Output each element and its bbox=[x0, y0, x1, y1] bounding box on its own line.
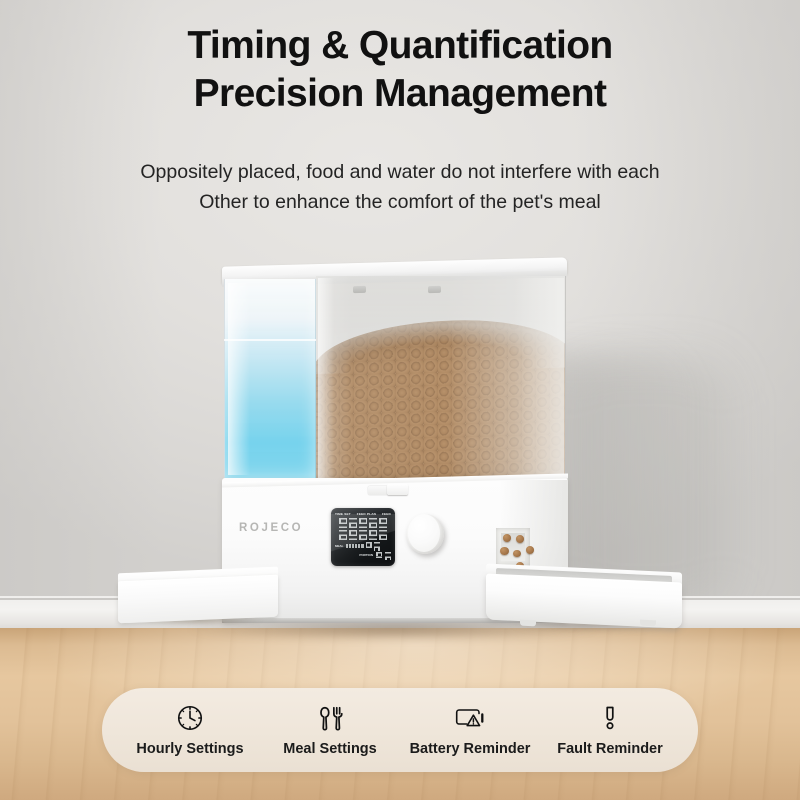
water-tank-gloss bbox=[228, 283, 250, 475]
hopper-gloss-left bbox=[318, 278, 334, 482]
lcd-digit bbox=[379, 518, 387, 528]
latch-right-part bbox=[387, 484, 408, 495]
falling-kibble bbox=[526, 546, 534, 554]
lcd-digit bbox=[374, 542, 380, 550]
lcd-digit bbox=[379, 530, 387, 540]
lcd-digit bbox=[369, 518, 377, 528]
food-hopper bbox=[316, 276, 566, 484]
food-tray-foot bbox=[640, 620, 656, 627]
feature-label: Fault Reminder bbox=[557, 741, 663, 757]
falling-kibble bbox=[513, 550, 521, 557]
lcd-display[interactable]: TIME SET FEED PLAN FEED MEAL bbox=[331, 508, 395, 566]
feature-highlight-bar: Hourly Settings Meal Settings bbox=[102, 688, 698, 772]
cutlery-icon bbox=[315, 703, 345, 733]
lcd-meal-bars bbox=[346, 544, 364, 549]
food-tray-foot bbox=[520, 620, 536, 627]
lcd-label-time-set: TIME SET bbox=[335, 512, 351, 516]
latch-left-part bbox=[368, 486, 388, 495]
lcd-digit bbox=[339, 530, 347, 540]
falling-kibble bbox=[516, 535, 524, 543]
clock-icon bbox=[175, 703, 205, 733]
lcd-digit bbox=[385, 552, 391, 560]
lcd-segment-row-2 bbox=[335, 530, 391, 540]
lcd-segment-row-1 bbox=[335, 518, 391, 528]
water-tray bbox=[118, 575, 278, 624]
feature-label: Battery Reminder bbox=[410, 741, 531, 757]
lcd-meal-row: MEAL bbox=[335, 542, 391, 550]
pet-feeder-product: ROJECO TIME SET FEED PLAN FEED bbox=[0, 0, 800, 680]
feature-item-fault-reminder[interactable]: Fault Reminder bbox=[540, 703, 680, 757]
lcd-digit bbox=[376, 552, 382, 560]
lcd-digit bbox=[339, 518, 347, 528]
lcd-top-labels: TIME SET FEED PLAN FEED bbox=[335, 512, 391, 516]
feature-item-battery-reminder[interactable]: Battery Reminder bbox=[400, 703, 540, 757]
feature-label: Meal Settings bbox=[283, 741, 376, 757]
lcd-portion-row: PORTION bbox=[335, 552, 391, 560]
lcd-label-feed: FEED bbox=[382, 512, 391, 516]
lcd-digit bbox=[359, 518, 367, 528]
lcd-label-portion: PORTION bbox=[359, 553, 373, 557]
exclamation-icon bbox=[595, 703, 625, 733]
hopper-gloss-right bbox=[514, 278, 564, 482]
lcd-digit bbox=[366, 542, 372, 550]
hopper-latch[interactable] bbox=[368, 484, 408, 496]
lcd-digit bbox=[349, 518, 357, 528]
lcd-digit bbox=[369, 530, 377, 540]
feature-item-hourly-settings[interactable]: Hourly Settings bbox=[120, 703, 260, 757]
falling-kibble bbox=[500, 547, 509, 555]
hopper-hinge-clip bbox=[353, 286, 366, 293]
lcd-label-meal: MEAL bbox=[335, 544, 344, 548]
falling-kibble bbox=[503, 534, 511, 542]
feature-label: Hourly Settings bbox=[136, 741, 243, 757]
battery-warning-icon bbox=[454, 703, 486, 733]
lcd-digit bbox=[359, 530, 367, 540]
product-feature-page: Timing & Quantification Precision Manage… bbox=[0, 0, 800, 800]
lcd-label-feed-plan: FEED PLAN bbox=[357, 512, 376, 516]
feature-item-meal-settings[interactable]: Meal Settings bbox=[260, 703, 400, 757]
brand-logo: ROJECO bbox=[239, 522, 319, 534]
lcd-digit bbox=[349, 530, 357, 540]
control-knob-face bbox=[408, 514, 440, 552]
hopper-hinge-clip bbox=[428, 286, 441, 293]
